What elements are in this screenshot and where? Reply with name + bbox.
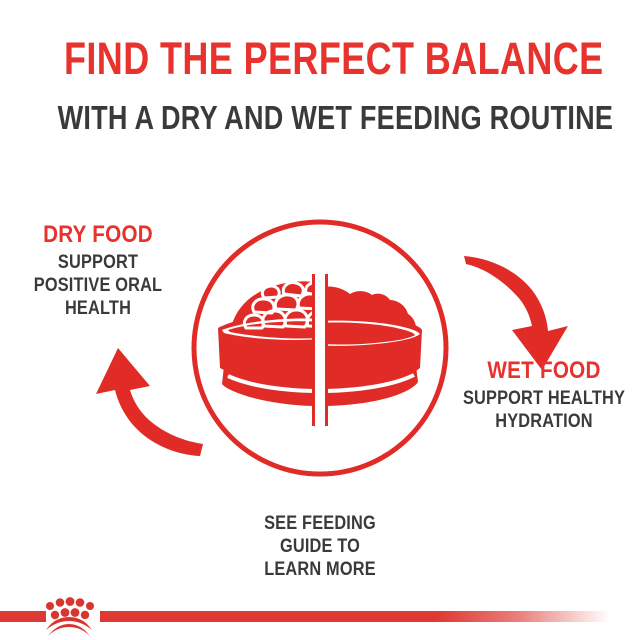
cta-line: SEE FEEDING <box>45 512 595 535</box>
dry-food-panel: DRY FOOD SUPPORT POSITIVE ORAL HEALTH <box>0 222 196 320</box>
wet-food-description-line: HYDRATION <box>461 410 626 433</box>
poster-canvas: FIND THE PERFECT BALANCE WITH A DRY AND … <box>0 0 640 640</box>
wet-food-title: WET FOOD <box>461 358 626 384</box>
dry-food-title: DRY FOOD <box>14 222 183 248</box>
bowl-divider-line-right <box>325 274 328 426</box>
cta-line: LEARN MORE <box>45 558 595 581</box>
curved-arrow-down-right-icon <box>462 252 594 374</box>
royal-canin-crown-logo <box>38 596 100 638</box>
footer <box>0 592 640 640</box>
bowl-divider-gap <box>315 274 325 426</box>
page-subtitle: WITH A DRY AND WET FEEDING ROUTINE <box>58 99 583 137</box>
split-pet-food-bowl-in-circle-icon <box>188 216 452 480</box>
cta-line: GUIDE TO <box>45 535 595 558</box>
wet-food-description-line: SUPPORT HEALTHY <box>461 387 626 410</box>
dry-food-description-line: SUPPORT <box>14 251 183 274</box>
page-title: FIND THE PERFECT BALANCE <box>64 34 576 84</box>
dry-food-description-line: HEALTH <box>14 297 183 320</box>
dry-food-description: SUPPORT POSITIVE ORAL HEALTH <box>14 251 183 320</box>
dry-food-description-line: POSITIVE ORAL <box>14 274 183 297</box>
footer-rule-right <box>100 611 610 622</box>
feeding-guide-cta: SEE FEEDING GUIDE TO LEARN MORE <box>0 512 640 581</box>
bowl-divider-line-left <box>312 274 315 426</box>
wet-food-description: SUPPORT HEALTHY HYDRATION <box>461 387 626 433</box>
wet-food-panel: WET FOOD SUPPORT HEALTHY HYDRATION <box>448 358 640 433</box>
